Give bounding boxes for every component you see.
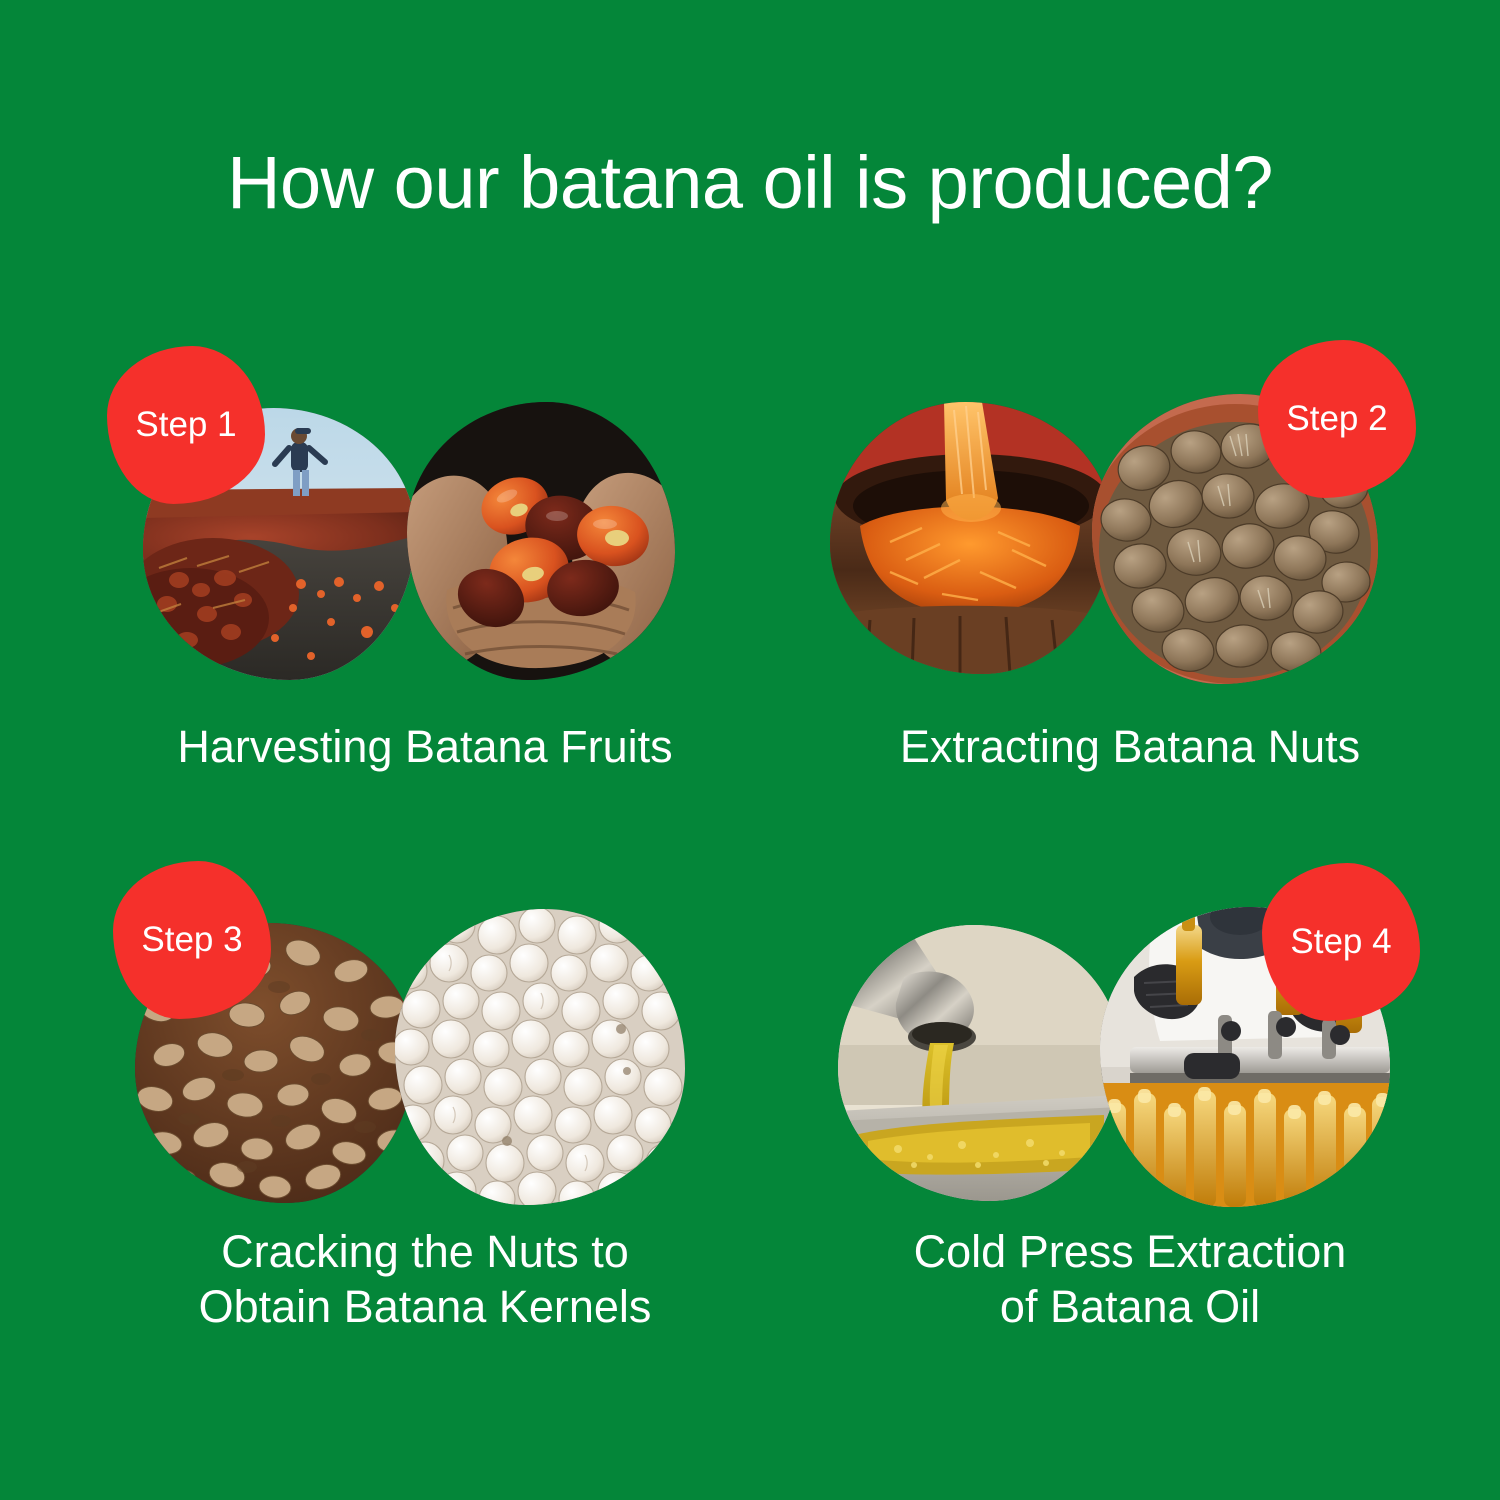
step-badge-1: Step 1 bbox=[107, 346, 265, 504]
step-caption-2: Extracting Batana Nuts bbox=[800, 720, 1460, 775]
step-card-4: Step 4 Cold Press Extraction of Batana O… bbox=[800, 845, 1460, 1415]
step-badge-label-1: Step 1 bbox=[107, 346, 265, 504]
white-batana-kernels-photo bbox=[395, 909, 685, 1205]
step-caption-3: Cracking the Nuts to Obtain Batana Kerne… bbox=[95, 1225, 755, 1335]
step-caption-4-line-2: of Batana Oil bbox=[800, 1280, 1460, 1335]
step-card-1: Step 1 Harvesting Batana Fruits bbox=[95, 330, 755, 900]
step-1-media-group: Step 1 bbox=[95, 330, 755, 690]
step-card-3: Step 3 Cracking the Nuts to Obtain Batan… bbox=[95, 845, 755, 1415]
step-caption-4: Cold Press Extraction of Batana Oil bbox=[800, 1225, 1460, 1335]
infographic-canvas: How our batana oil is produced? bbox=[0, 0, 1500, 1500]
step-caption-2-line-1: Extracting Batana Nuts bbox=[800, 720, 1460, 775]
step-caption-1-line-1: Harvesting Batana Fruits bbox=[95, 720, 755, 775]
step-badge-label-4: Step 4 bbox=[1262, 863, 1420, 1021]
step-badge-3: Step 3 bbox=[113, 861, 271, 1019]
step-3-media-group: Step 3 bbox=[95, 845, 755, 1205]
step-caption-3-line-1: Cracking the Nuts to bbox=[95, 1225, 755, 1280]
hands-holding-batana-fruits-photo bbox=[407, 402, 675, 680]
step-caption-3-line-2: Obtain Batana Kernels bbox=[95, 1280, 755, 1335]
step-card-2: Step 2 Extracting Batana Nuts bbox=[800, 330, 1460, 900]
oil-pouring-from-press-photo bbox=[838, 925, 1120, 1201]
step-caption-1: Harvesting Batana Fruits bbox=[95, 720, 755, 775]
step-badge-label-3: Step 3 bbox=[113, 861, 271, 1019]
step-badge-label-2: Step 2 bbox=[1258, 340, 1416, 498]
step-badge-4: Step 4 bbox=[1262, 863, 1420, 1021]
step-badge-2: Step 2 bbox=[1258, 340, 1416, 498]
step-caption-4-line-1: Cold Press Extraction bbox=[800, 1225, 1460, 1280]
step-2-media-group: Step 2 bbox=[800, 330, 1460, 690]
step-4-media-group: Step 4 bbox=[800, 845, 1460, 1205]
page-title: How our batana oil is produced? bbox=[0, 146, 1500, 220]
pounding-fruit-mortar-photo bbox=[830, 402, 1112, 674]
